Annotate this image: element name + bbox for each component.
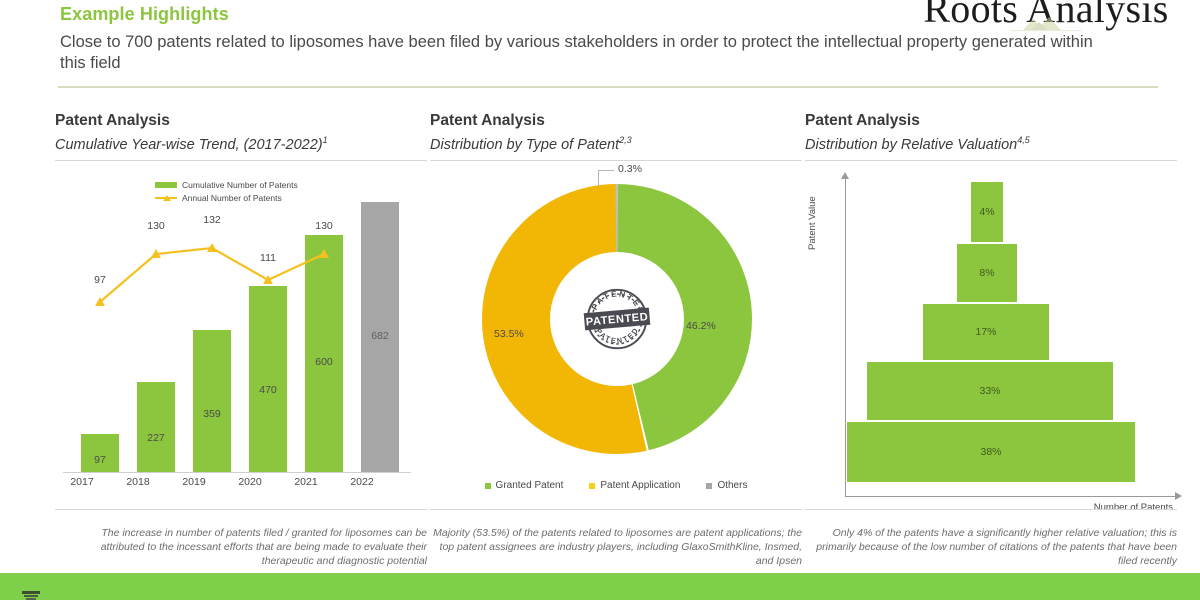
panel1-title: Patent Analysis <box>55 112 427 130</box>
xtick-2018: 2018 <box>110 476 166 488</box>
header-eyebrow: Example Highlights <box>60 4 229 25</box>
pyramid-tier-5: 38% <box>847 422 1135 482</box>
panel1-footnote-divider <box>55 509 427 510</box>
pyramid-x-axis-label: Number of Patents <box>1094 502 1173 513</box>
pyramid-plot-area: Patent Value Number of Patents 4% 8% 17%… <box>825 168 1177 498</box>
legend-swatch-grey-icon <box>706 483 712 489</box>
callout-leader-elbow <box>598 170 614 171</box>
xtick-2022: 2022 <box>334 476 390 488</box>
panel3-footnote-divider <box>805 509 1177 510</box>
panel3-subtitle: Distribution by Relative Valuation4,5 <box>805 131 1177 154</box>
annual-line-series <box>63 162 419 472</box>
xtick-2021: 2021 <box>278 476 334 488</box>
chart1-plot-area: 97 227 359 470 600 682 <box>63 162 419 472</box>
panel-relative-valuation: Patent Analysis Distribution by Relative… <box>805 112 1177 562</box>
brand-logo: Roots Analysis <box>896 0 1196 44</box>
pyramid-label-tier-5: 38% <box>980 446 1001 458</box>
chart-relative-valuation: Patent Value Number of Patents 4% 8% 17%… <box>805 162 1177 552</box>
panel2-subtitle-text: Distribution by Type of Patent <box>430 137 619 153</box>
panel3-subtitle-sup: 4,5 <box>1017 135 1030 145</box>
chart-cumulative-trend: Cumulative Number of Patents Annual Numb… <box>55 162 427 512</box>
x-axis-arrow-icon <box>1175 492 1182 500</box>
patented-stamp-icon: PATENTED PATENTED PATENTED <box>574 276 660 362</box>
point-label-2019: 132 <box>192 214 232 226</box>
legend-swatch-yellow-icon <box>589 483 595 489</box>
legend-swatch-green-icon <box>485 483 491 489</box>
pyramid-label-tier-2: 8% <box>979 267 994 279</box>
legend-item-granted-patent: Granted Patent <box>485 480 564 491</box>
panel3-title: Patent Analysis <box>805 112 1177 130</box>
panel2-footnote-divider <box>430 509 802 510</box>
header-divider <box>58 86 1158 88</box>
panel1-divider <box>55 160 427 161</box>
legend-label-others: Others <box>717 480 747 491</box>
chart2-legend: Granted Patent Patent Application Others <box>430 480 802 491</box>
slice-label-granted-patent: 46.2% <box>686 320 716 332</box>
chart1-x-axis <box>63 472 411 473</box>
panel1-subtitle: Cumulative Year-wise Trend, (2017-2022)1 <box>55 131 427 154</box>
pyramid-y-axis-label: Patent Value <box>807 196 818 250</box>
pyramid-label-tier-1: 4% <box>979 206 994 218</box>
y-axis-arrow-icon <box>841 172 849 179</box>
chart-type-of-patent: 0.3% 53.5% 46.2% <box>430 162 802 552</box>
slice-label-patent-application: 53.5% <box>494 328 524 340</box>
panel2-subtitle: Distribution by Type of Patent2,3 <box>430 131 802 154</box>
pyramid-tier-3: 17% <box>923 304 1049 360</box>
pyramid-tier-2: 8% <box>957 244 1017 302</box>
legend-label-patent-application: Patent Application <box>600 480 680 491</box>
pyramid-label-tier-4: 33% <box>979 385 1000 397</box>
panel3-subtitle-text: Distribution by Relative Valuation <box>805 137 1017 153</box>
point-label-2021: 130 <box>304 220 344 232</box>
panel3-footnote: Only 4% of the patents have a significan… <box>805 526 1177 568</box>
pyramid-y-axis <box>845 178 846 496</box>
slide-canvas: Example Highlights Close to 700 patents … <box>0 0 1200 600</box>
xtick-2017: 2017 <box>54 476 110 488</box>
slide-footer-bar <box>0 573 1200 600</box>
panel2-title: Patent Analysis <box>430 112 802 130</box>
panel-cumulative-trend: Patent Analysis Cumulative Year-wise Tre… <box>55 112 427 562</box>
point-label-2018: 130 <box>136 220 176 232</box>
xtick-2020: 2020 <box>222 476 278 488</box>
pyramid-label-tier-3: 17% <box>975 326 996 338</box>
panel1-subtitle-text: Cumulative Year-wise Trend, (2017-2022) <box>55 137 323 153</box>
legend-item-patent-application: Patent Application <box>589 480 680 491</box>
panel2-footnote: Majority (53.5%) of the patents related … <box>430 526 802 568</box>
footer-mark-icon <box>22 591 40 600</box>
point-label-2020: 111 <box>248 252 288 264</box>
donut-chart: 53.5% 46.2% PATENTED PATENTED <box>482 184 752 454</box>
point-label-2017: 97 <box>80 274 120 286</box>
legend-item-others: Others <box>706 480 747 491</box>
pyramid-x-axis <box>845 496 1177 497</box>
mountain-logo-icon <box>1011 16 1081 32</box>
panel1-footnote: The increase in number of patents filed … <box>55 526 427 568</box>
panel2-divider <box>430 160 802 161</box>
xtick-2019: 2019 <box>166 476 222 488</box>
panel1-subtitle-sup: 1 <box>323 135 328 145</box>
slice-label-others: 0.3% <box>618 163 642 175</box>
panel-type-of-patent: Patent Analysis Distribution by Type of … <box>430 112 802 562</box>
pyramid-tier-4: 33% <box>867 362 1113 420</box>
panel3-divider <box>805 160 1177 161</box>
panel2-subtitle-sup: 2,3 <box>619 135 632 145</box>
pyramid-tier-1: 4% <box>971 182 1003 242</box>
legend-label-granted-patent: Granted Patent <box>496 480 564 491</box>
